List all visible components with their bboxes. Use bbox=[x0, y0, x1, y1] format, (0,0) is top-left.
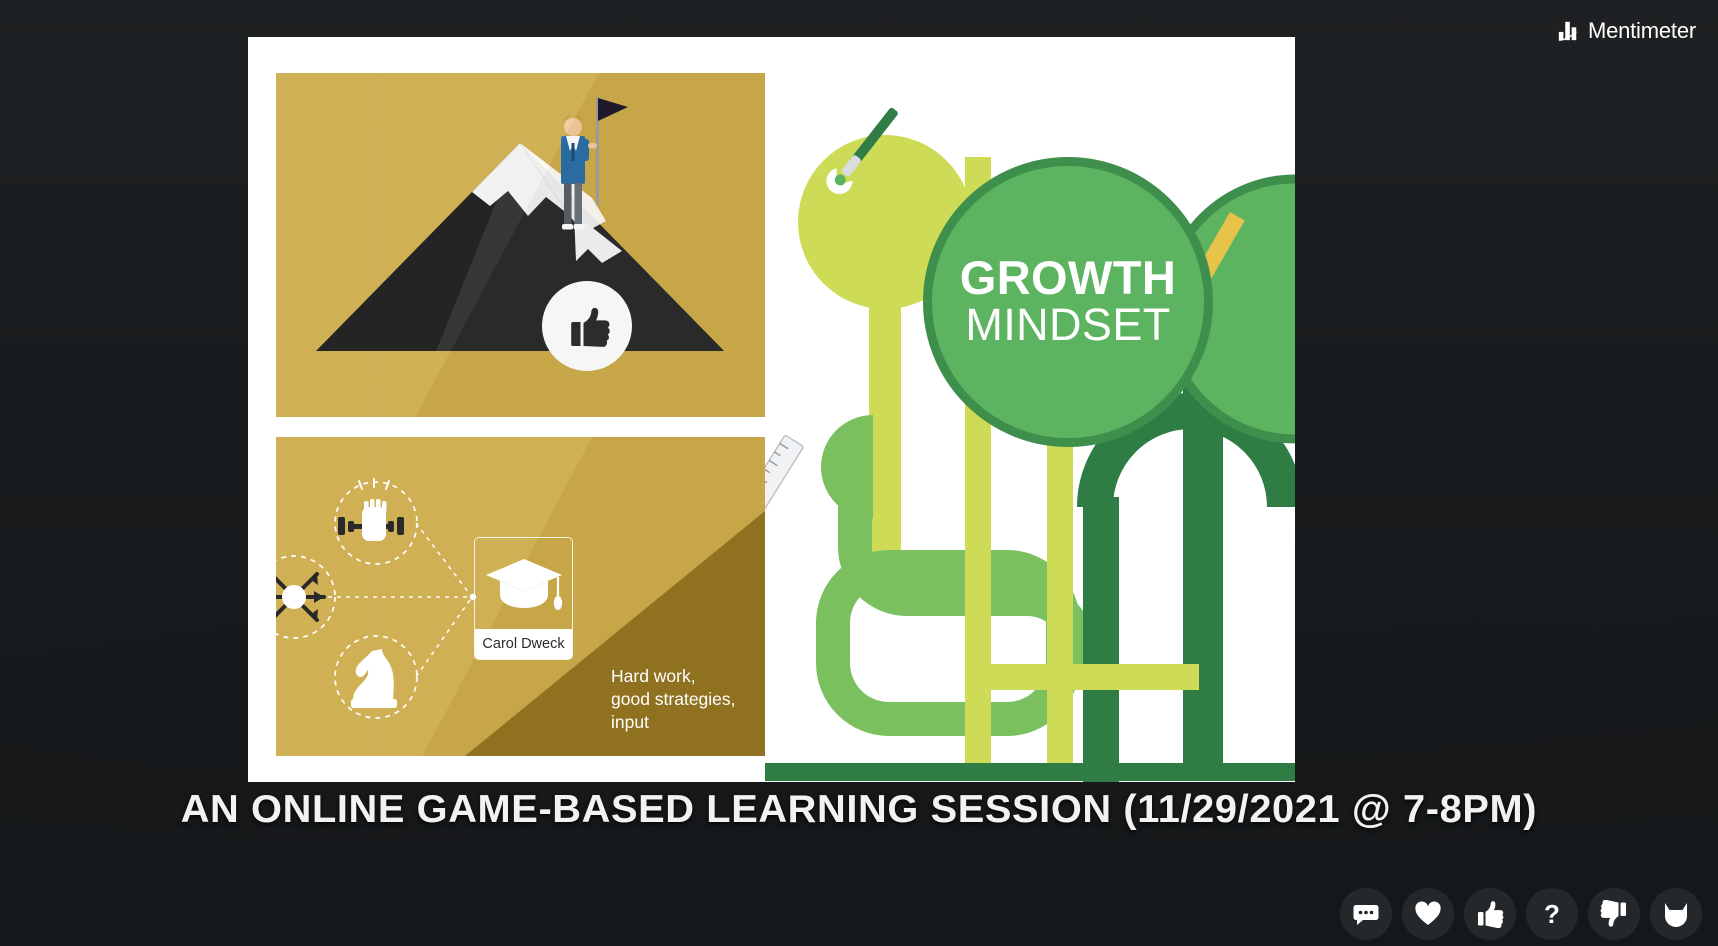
growth-title-line1: GROWTH bbox=[960, 254, 1176, 301]
ruler-icon bbox=[765, 435, 804, 531]
slide-canvas: Carol Dweck Hard work, good strategies, … bbox=[248, 37, 1295, 782]
mentimeter-brand: Mentimeter bbox=[1557, 18, 1696, 44]
reaction-bar[interactable]: ? bbox=[1340, 888, 1702, 940]
chess-knight-icon bbox=[351, 649, 397, 708]
graduation-cap-icon bbox=[484, 555, 565, 617]
session-caption: AN ONLINE GAME-BASED LEARNING SESSION (1… bbox=[0, 788, 1718, 832]
growth-mindset-badge: GROWTH MINDSET bbox=[923, 157, 1213, 447]
carol-dweck-card: Carol Dweck bbox=[474, 537, 573, 660]
ground-line bbox=[765, 763, 1295, 781]
question-mark-icon[interactable]: ? bbox=[1526, 888, 1578, 940]
svg-text:?: ? bbox=[1544, 900, 1560, 928]
presentation-viewer: Mentimeter bbox=[0, 0, 1718, 946]
session-caption-text: AN ONLINE GAME-BASED LEARNING SESSION (1… bbox=[181, 788, 1537, 832]
comment-bubble-icon[interactable] bbox=[1340, 888, 1392, 940]
mentimeter-bars-icon bbox=[1557, 20, 1579, 42]
growth-title-line2: MINDSET bbox=[965, 301, 1170, 350]
carol-dweck-panel: Carol Dweck Hard work, good strategies, … bbox=[276, 437, 765, 756]
mask-avatar-icon[interactable] bbox=[1650, 888, 1702, 940]
mountain-illustration bbox=[276, 73, 765, 417]
thumbs-down-icon[interactable] bbox=[1588, 888, 1640, 940]
mentimeter-wordmark: Mentimeter bbox=[1588, 18, 1696, 44]
heart-icon[interactable] bbox=[1402, 888, 1454, 940]
thumbs-up-icon[interactable] bbox=[1464, 888, 1516, 940]
hard-work-caption: Hard work, good strategies, input bbox=[611, 665, 736, 734]
mountain-success-panel bbox=[276, 73, 765, 417]
dumbbell-strength-icon bbox=[338, 479, 404, 541]
growth-mindset-panel: GROWTH MINDSET bbox=[765, 37, 1295, 782]
carol-dweck-label: Carol Dweck bbox=[475, 629, 572, 659]
